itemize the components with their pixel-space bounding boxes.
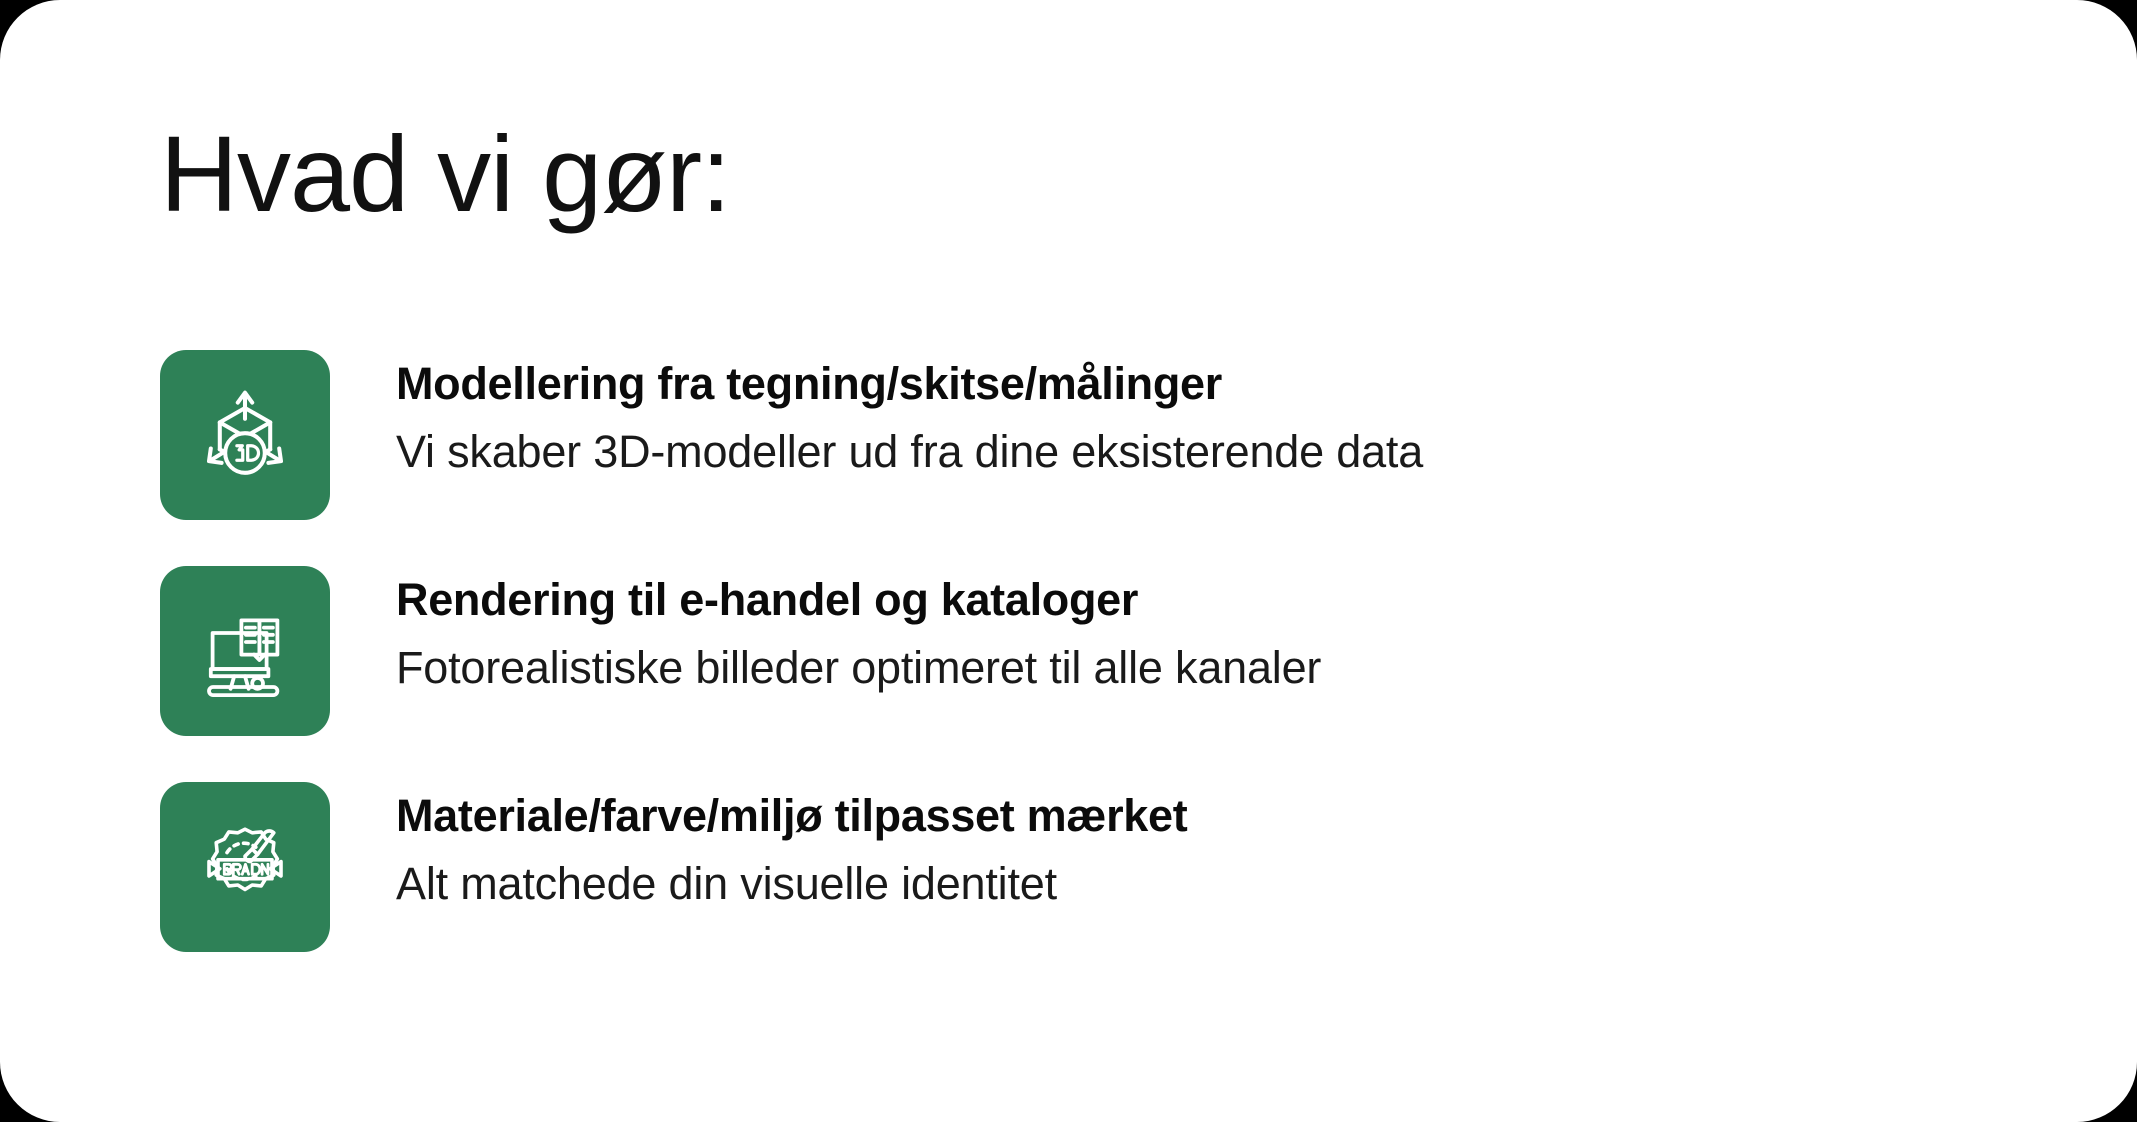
feature-heading: Materiale/farve/miljø tilpasset mærket xyxy=(396,788,2010,844)
monitor-catalog-book-icon xyxy=(160,566,330,736)
brand-badge-paintbrush-icon xyxy=(160,782,330,952)
feature-item: Modellering fra tegning/skitse/målinger … xyxy=(160,350,2010,520)
feature-subtitle: Vi skaber 3D-modeller ud fra dine eksist… xyxy=(396,424,2010,480)
feature-subtitle: Alt matchede din visuelle identitet xyxy=(396,856,2010,912)
3d-cube-axes-icon xyxy=(160,350,330,520)
page-title: Hvad vi gør: xyxy=(160,120,730,228)
feature-subtitle: Fotorealistiske billeder optimeret til a… xyxy=(396,640,2010,696)
feature-text: Materiale/farve/miljø tilpasset mærket A… xyxy=(330,782,2010,913)
feature-heading: Modellering fra tegning/skitse/målinger xyxy=(396,356,2010,412)
feature-item: Rendering til e-handel og kataloger Foto… xyxy=(160,566,2010,736)
feature-item: Materiale/farve/miljø tilpasset mærket A… xyxy=(160,782,2010,952)
feature-text: Modellering fra tegning/skitse/målinger … xyxy=(330,350,2010,481)
feature-heading: Rendering til e-handel og kataloger xyxy=(396,572,2010,628)
info-card: Hvad vi gør: xyxy=(0,0,2137,1122)
feature-list: Modellering fra tegning/skitse/målinger … xyxy=(160,350,2010,952)
feature-text: Rendering til e-handel og kataloger Foto… xyxy=(330,566,2010,697)
